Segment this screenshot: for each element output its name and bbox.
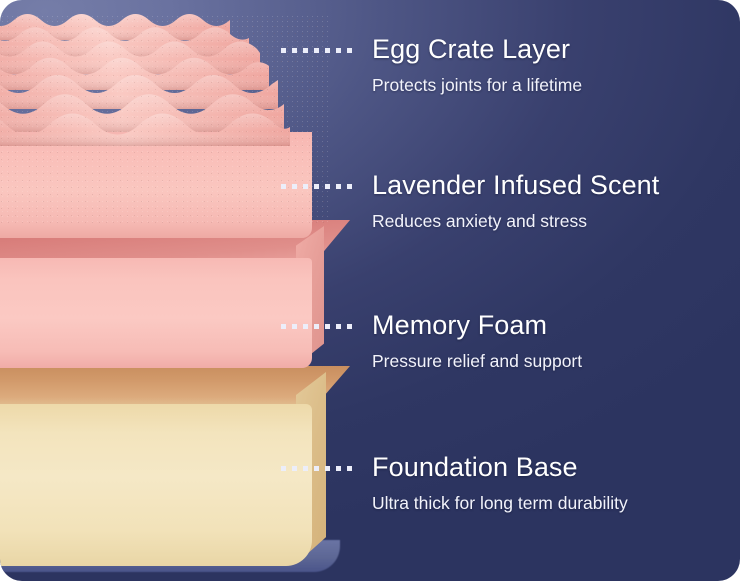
mattress-layers-infographic: Egg Crate Layer Protects joints for a li… <box>0 0 740 581</box>
callout-title-memory-foam: Memory Foam <box>372 309 582 341</box>
callout-title-foundation-base: Foundation Base <box>372 451 628 483</box>
foundation-base-front-face <box>0 404 312 566</box>
callout-subtitle-memory-foam: Pressure relief and support <box>372 350 582 372</box>
callout-subtitle-lavender: Reduces anxiety and stress <box>372 210 659 232</box>
callout-title-lavender: Lavender Infused Scent <box>372 169 659 201</box>
egg-crate-front-face <box>0 132 312 238</box>
callout-subtitle-foundation-base: Ultra thick for long term durability <box>372 492 628 514</box>
callout-text-memory-foam: Memory Foam Pressure relief and support <box>372 309 582 372</box>
connector-dots-memory-foam-icon <box>281 324 353 329</box>
callout-text-foundation-base: Foundation Base Ultra thick for long ter… <box>372 451 628 514</box>
memory-foam-front-face <box>0 258 312 368</box>
callout-text-lavender: Lavender Infused Scent Reduces anxiety a… <box>372 169 659 232</box>
callout-foundation-base: Foundation Base Ultra thick for long ter… <box>0 0 740 120</box>
connector-dots-foundation-base-icon <box>281 466 353 471</box>
connector-dots-lavender-icon <box>281 184 353 189</box>
